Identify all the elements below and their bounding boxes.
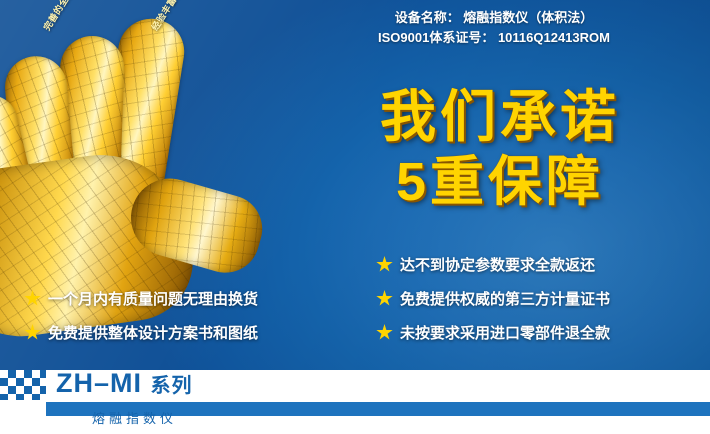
brand-model: ZH–MI xyxy=(56,368,142,398)
promise-item: 一个月内有质量问题无理由换货 xyxy=(24,288,258,309)
promise-list: 达不到协定参数要求全款返还 免费提供权威的第三方计量证书 未按要求采用进口零部件… xyxy=(0,240,710,370)
promise-item: 达不到协定参数要求全款返还 xyxy=(376,254,595,275)
brand-series: 系列 xyxy=(151,375,193,397)
headline-line-1: 我们承诺 xyxy=(300,86,700,148)
brand-subtitle: 熔融指数仪 xyxy=(92,408,177,427)
brand-name: ZH–MI 系列 xyxy=(56,368,193,399)
headline-line-2: 5重保障 xyxy=(300,152,700,212)
checkerboard-decoration xyxy=(0,370,46,400)
star-icon xyxy=(24,290,41,307)
star-icon xyxy=(376,324,393,341)
footer-bar: ZH–MI 系列 熔融指数仪 xyxy=(0,370,710,434)
headline-block: 我们承诺 5重保障 xyxy=(300,86,700,212)
promise-item: 免费提供权威的第三方计量证书 xyxy=(376,288,610,309)
iso-certificate-line: ISO9001体系证号： 10116Q12413ROM xyxy=(294,28,694,48)
promise-text: 免费提供整体设计方案书和图纸 xyxy=(48,322,258,343)
star-icon xyxy=(376,290,393,307)
promise-text: 一个月内有质量问题无理由换货 xyxy=(48,288,258,309)
star-icon xyxy=(24,324,41,341)
promise-text: 未按要求采用进口零部件退全款 xyxy=(400,322,610,343)
promise-text: 免费提供权威的第三方计量证书 xyxy=(400,288,610,309)
promotional-banner: 完善的全面售后体系 经验丰富全面图片 设备名称： 熔融指数仪（体积法） ISO9… xyxy=(0,0,710,434)
promise-item: 免费提供整体设计方案书和图纸 xyxy=(24,322,258,343)
equipment-name-line: 设备名称： 熔融指数仪（体积法） xyxy=(294,8,694,28)
equipment-spec-block: 设备名称： 熔融指数仪（体积法） ISO9001体系证号： 10116Q1241… xyxy=(294,8,694,48)
promise-text: 达不到协定参数要求全款返还 xyxy=(400,254,595,275)
star-icon xyxy=(376,256,393,273)
promise-item: 未按要求采用进口零部件退全款 xyxy=(376,322,610,343)
